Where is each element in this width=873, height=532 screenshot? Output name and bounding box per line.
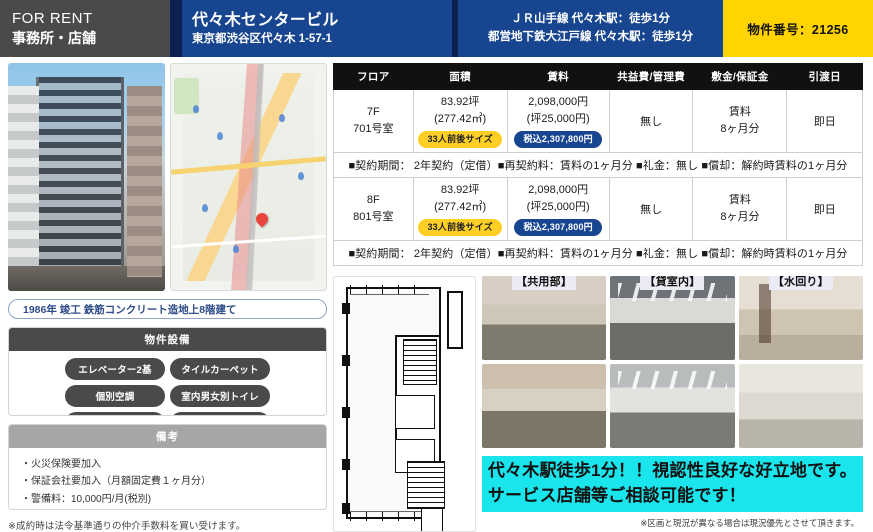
- remarks-title: 備考: [9, 425, 326, 448]
- property-spec-table: フロア 面積 賃料 共益費/管理費 敷金/保証金 引渡日 7F 701号室: [333, 63, 863, 266]
- plan-column: [342, 503, 350, 514]
- right-column: フロア 面積 賃料 共益費/管理費 敷金/保証金 引渡日 7F 701号室: [333, 57, 873, 532]
- cell-area: 83.92坪 (277.42㎡) 33人前後サイズ: [413, 90, 507, 153]
- photo-water-1[interactable]: 【水回り】: [739, 276, 863, 360]
- remarks-list: ・火災保険要加入 ・保証会社要加入（月額固定費１ヶ月分） ・警備料：10,000…: [9, 448, 326, 510]
- building-address: 東京都渋谷区代々木 1-57-1: [192, 31, 452, 47]
- photo-office-1[interactable]: 【貸室内】: [610, 276, 734, 360]
- location-map[interactable]: [170, 63, 327, 291]
- table-row[interactable]: 7F 701号室 83.92坪 (277.42㎡) 33人前後サイズ 2,098…: [334, 90, 863, 153]
- table-note-row: ■契約期間： 2年契約（定借）■再契約料：賃料の1ヶ月分 ■礼金：無し ■償却：…: [334, 153, 863, 178]
- building-spec-box: 1986年 竣工 鉄筋コンクリート造地上8階建て: [8, 299, 327, 319]
- table-note-row: ■契約期間： 2年契約（定借）■再契約料：賃料の1ヶ月分 ■礼金：無し ■償却：…: [334, 241, 863, 266]
- plan-column: [342, 407, 350, 418]
- cell-delivery-date: 即日: [787, 90, 863, 153]
- plan-restroom-a: [395, 395, 435, 429]
- plan-column: [342, 355, 350, 366]
- area-tsubo: 83.92坪: [416, 182, 505, 199]
- plan-shaft: [447, 291, 463, 349]
- facilities-grid: エレベーター2基 タイルカーペット 個別空調 室内男女別トイレ 機械警備 機械式…: [9, 351, 326, 416]
- facilities-title: 物件設備: [9, 328, 326, 351]
- photo-grid: 【共用部】 【貸室内】 【水回り】: [482, 276, 863, 448]
- remarks-box: 備考 ・火災保険要加入 ・保証会社要加入（月額固定費１ヶ月分） ・警備料：10,…: [8, 424, 327, 510]
- promo-banner: 代々木駅徒歩1分！！視認性良好な好立地です。 サービス店舗等ご相談可能です！: [482, 456, 863, 512]
- photo-gallery: 【共用部】 【貸室内】 【水回り】: [482, 276, 863, 532]
- plan-window-top: [350, 285, 429, 295]
- cell-floor: 7F 701号室: [334, 90, 414, 153]
- remark-item: ・火災保険要加入: [21, 456, 316, 474]
- floor-value: 8F: [336, 192, 411, 209]
- cell-rent: 2,098,000円 (坪25,000円) 税込2,307,800円: [507, 178, 609, 241]
- rent-tax-included-badge: 税込2,307,800円: [514, 219, 601, 236]
- col-header-rent: 賃料: [507, 64, 609, 90]
- facility-tag: 機械警備: [65, 412, 165, 416]
- room-value: 801号室: [336, 209, 411, 226]
- rent-total: 2,098,000円: [510, 182, 607, 199]
- area-sqm: (277.42㎡): [416, 111, 505, 128]
- page-body: 1986年 竣工 鉄筋コンクリート造地上8階建て 物件設備 エレベーター2基 タ…: [0, 57, 873, 532]
- map-poi-marker-icon: [233, 245, 239, 253]
- plan-column: [342, 459, 350, 470]
- remark-item: ・警備料：10,000円/月(税別): [21, 491, 316, 509]
- remark-item: ・保証会社要加入（月額固定費１ヶ月分）: [21, 473, 316, 491]
- col-header-floor: フロア: [334, 64, 414, 90]
- building-name-block: 代々木センタービル 東京都渋谷区代々木 1-57-1: [182, 0, 452, 57]
- for-rent-block: FOR RENT 事務所・店舗: [0, 0, 170, 57]
- facilities-box: 物件設備 エレベーター2基 タイルカーペット 個別空調 室内男女別トイレ 機械警…: [8, 327, 327, 416]
- area-tsubo: 83.92坪: [416, 94, 505, 111]
- room-value: 701号室: [336, 121, 411, 138]
- page-header: FOR RENT 事務所・店舗 代々木センタービル 東京都渋谷区代々木 1-57…: [0, 0, 873, 57]
- floor-value: 7F: [336, 104, 411, 121]
- plan-stairs-lower-icon: [407, 461, 445, 509]
- lower-section: 【共用部】 【貸室内】 【水回り】: [333, 276, 863, 532]
- media-row: [8, 63, 327, 291]
- floor-plan[interactable]: [333, 276, 476, 532]
- photo-label-office: 【貸室内】: [640, 276, 704, 290]
- table-header-row: フロア 面積 賃料 共益費/管理費 敷金/保証金 引渡日: [334, 64, 863, 90]
- deposit-basis: 賃料: [695, 192, 784, 209]
- cell-area: 83.92坪 (277.42㎡) 33人前後サイズ: [413, 178, 507, 241]
- rent-total: 2,098,000円: [510, 94, 607, 111]
- promo-line-1: 代々木駅徒歩1分！！視認性良好な好立地です。: [488, 459, 857, 484]
- facility-tag: 個別空調: [65, 385, 165, 407]
- photo-water-2[interactable]: [739, 364, 863, 448]
- col-header-area: 面積: [413, 64, 507, 90]
- street-ground: [8, 266, 165, 291]
- building-name: 代々木センタービル: [192, 10, 452, 32]
- facility-tag: タイルカーペット: [170, 358, 270, 380]
- deposit-months: 8ヶ月分: [695, 209, 784, 226]
- capacity-badge: 33人前後サイズ: [418, 219, 501, 236]
- cell-floor: 8F 801号室: [334, 178, 414, 241]
- access-block: ＪＲ山手線 代々木駅：徒歩1分 都営地下鉄大江戸線 代々木駅：徒歩1分: [458, 0, 723, 57]
- property-flyer: FOR RENT 事務所・店舗 代々木センタービル 東京都渋谷区代々木 1-57…: [0, 0, 873, 532]
- ceiling-lights: [618, 371, 727, 389]
- rent-tax-included-badge: 税込2,307,800円: [514, 131, 601, 148]
- access-line-subway: 都営地下鉄大江戸線 代々木駅：徒歩1分: [488, 29, 693, 47]
- contract-note: ■契約期間： 2年契約（定借）■再契約料：賃料の1ヶ月分 ■礼金：無し ■償却：…: [334, 241, 863, 266]
- plan-elevator-2: [421, 507, 443, 532]
- header-divider-left: [170, 0, 182, 57]
- map-poi-marker-icon: [193, 105, 199, 113]
- photo-common-area-2[interactable]: [482, 364, 606, 448]
- access-line-jr: ＪＲ山手線 代々木駅：徒歩1分: [511, 11, 670, 29]
- for-rent-label: FOR RENT: [12, 10, 170, 29]
- rent-per-tsubo: (坪25,000円): [510, 199, 607, 216]
- cell-management-fee: 無し: [609, 90, 693, 153]
- area-sqm: (277.42㎡): [416, 199, 505, 216]
- table-row[interactable]: 8F 801号室 83.92坪 (277.42㎡) 33人前後サイズ 2,098…: [334, 178, 863, 241]
- promo-line-2: サービス店舗等ご相談可能です！: [488, 484, 857, 509]
- photo-label-water: 【水回り】: [769, 276, 833, 290]
- deposit-basis: 賃料: [695, 104, 784, 121]
- cell-rent: 2,098,000円 (坪25,000円) 税込2,307,800円: [507, 90, 609, 153]
- neighbor-building: [8, 86, 39, 282]
- remark-item: ・駐車場料金：40,000円/月(税別): [21, 508, 316, 510]
- facility-tag: 室内男女別トイレ: [170, 385, 270, 407]
- property-number-badge: 物件番号：21256: [723, 0, 873, 57]
- map-poi-marker-icon: [202, 204, 208, 212]
- property-type-label: 事務所・店舗: [12, 29, 170, 47]
- plan-column: [342, 303, 350, 314]
- contract-note: ■契約期間： 2年契約（定借）■再契約料：賃料の1ヶ月分 ■礼金：無し ■償却：…: [334, 153, 863, 178]
- photo-label-common: 【共用部】: [512, 276, 576, 290]
- cell-delivery-date: 即日: [787, 178, 863, 241]
- cell-management-fee: 無し: [609, 178, 693, 241]
- left-column: 1986年 竣工 鉄筋コンクリート造地上8階建て 物件設備 エレベーター2基 タ…: [0, 57, 333, 532]
- facility-tag: 機械式駐車場: [170, 412, 270, 416]
- col-header-delivery: 引渡日: [787, 64, 863, 90]
- plan-disclaimer: ※区画と現況が異なる場合は現況優先とさせて頂きます。: [482, 517, 863, 529]
- col-header-mgmt: 共益費/管理費: [609, 64, 693, 90]
- cell-deposit: 賃料 8ヶ月分: [693, 178, 787, 241]
- building-exterior-photo: [8, 63, 165, 291]
- photo-office-2[interactable]: [610, 364, 734, 448]
- door-panel: [759, 284, 771, 343]
- cell-deposit: 賃料 8ヶ月分: [693, 90, 787, 153]
- col-header-deposit: 敷金/保証金: [693, 64, 787, 90]
- deposit-months: 8ヶ月分: [695, 121, 784, 138]
- plan-window-bottom: [350, 511, 429, 521]
- capacity-badge: 33人前後サイズ: [418, 131, 501, 148]
- commission-note: ※成約時は法令基準通りの仲介手数料を買い受けます。: [8, 518, 327, 532]
- photo-common-area-1[interactable]: 【共用部】: [482, 276, 606, 360]
- facility-tag: エレベーター2基: [65, 358, 165, 380]
- plan-stairs-upper-icon: [403, 339, 437, 385]
- rent-per-tsubo: (坪25,000円): [510, 111, 607, 128]
